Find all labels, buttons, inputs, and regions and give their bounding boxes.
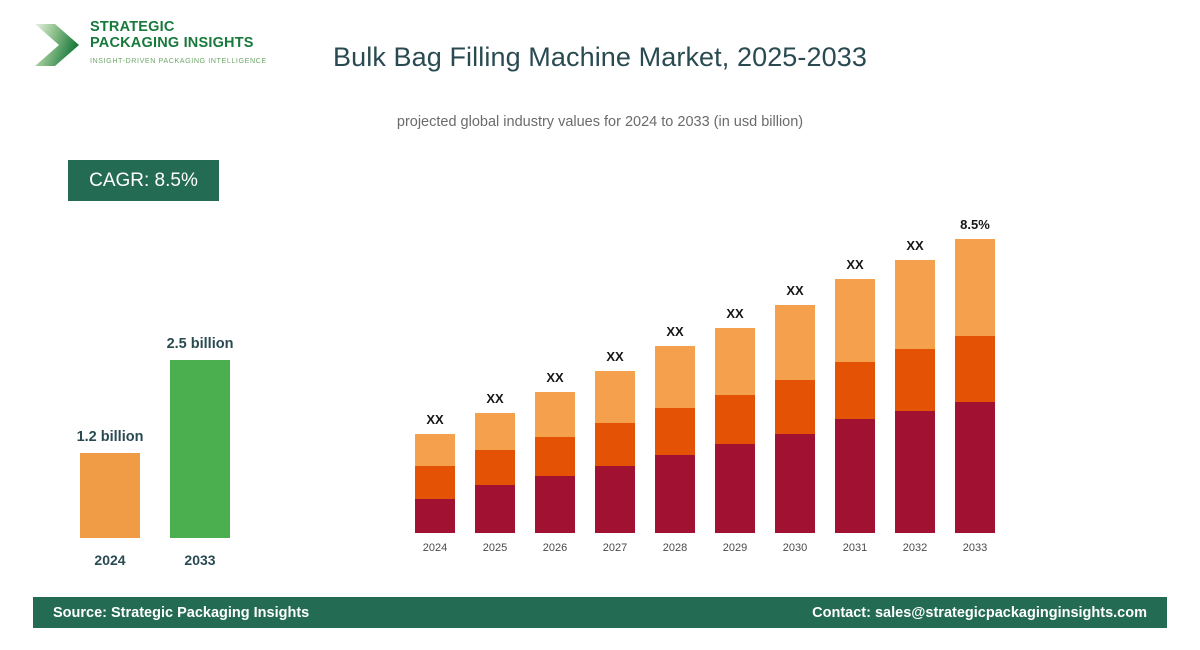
stacked-bar-year-label: 2025 [465,542,525,554]
stacked-bar-column: XX2030 [775,227,815,560]
stacked-bar-column: XX2024 [415,227,455,560]
stacked-bar-segment [595,423,635,466]
stacked-bar-segment [415,434,455,466]
stacked-bar [835,279,875,533]
comparison-bar-year-label: 2033 [170,552,230,568]
stacked-bar-column: XX2028 [655,227,695,560]
stacked-bar-value-label: XX [880,238,950,253]
stacked-bar-segment [415,466,455,499]
stacked-bar-segment [655,408,695,455]
stacked-bar-value-label: XX [640,324,710,339]
stacked-bar-segment [595,371,635,423]
stacked-bar-segment [955,336,995,402]
cagr-badge: CAGR: 8.5% [68,160,219,201]
stacked-bar [895,260,935,533]
stacked-bar-value-label: XX [760,283,830,298]
stacked-bar-segment [595,466,635,533]
stacked-bar [595,371,635,533]
stacked-bar-column: XX2027 [595,227,635,560]
stacked-bar-year-label: 2024 [405,542,465,554]
stacked-bar-year-label: 2028 [645,542,705,554]
stacked-bar-segment [955,402,995,533]
stacked-bar-value-label: XX [400,412,470,427]
infographic-canvas: STRATEGIC PACKAGING INSIGHTS INSIGHT-DRI… [0,0,1200,650]
stacked-bar-segment [835,362,875,419]
stacked-bar-value-label: XX [580,349,650,364]
stacked-bar [475,413,515,533]
stacked-bar-value-label: XX [820,257,890,272]
stacked-bar-year-label: 2027 [585,542,645,554]
stacked-bar [775,305,815,533]
stacked-bar-value-label: XX [700,306,770,321]
stacked-bar [655,346,695,533]
page-title: Bulk Bag Filling Machine Market, 2025-20… [0,42,1200,73]
stacked-bar [535,392,575,533]
footer-source: Source: Strategic Packaging Insights [53,605,309,621]
comparison-bar-value-label: 1.2 billion [55,429,165,445]
stacked-bar-segment [475,413,515,450]
brand-line-1: STRATEGIC [90,20,267,36]
stacked-bar-segment [715,395,755,444]
stacked-bar-segment [655,455,695,533]
stacked-bar-segment [895,260,935,349]
stacked-bar-segment [775,380,815,434]
stacked-bar-segment [655,346,695,408]
stacked-bar-year-label: 2033 [945,542,1005,554]
stacked-bar-segment [775,434,815,533]
stacked-bar-column: XX2026 [535,227,575,560]
stacked-bar-year-label: 2029 [705,542,765,554]
stacked-bar [715,328,755,533]
stacked-bar-year-label: 2026 [525,542,585,554]
stacked-bar-column: XX2032 [895,227,935,560]
stacked-bar-segment [535,392,575,437]
stacked-bar-segment [415,499,455,533]
stacked-bar-value-label: XX [520,370,590,385]
comparison-bar-chart: 1.2 billion20242.5 billion2033 [55,320,275,570]
page-subtitle: projected global industry values for 202… [0,114,1200,130]
stacked-bar-segment [955,239,995,336]
cagr-badge-label: CAGR: 8.5% [89,170,198,192]
comparison-bar-year-label: 2024 [80,552,140,568]
stacked-bar-segment [475,485,515,533]
comparison-bar-value-label: 2.5 billion [145,336,255,352]
stacked-bar-segment [475,450,515,485]
stacked-bar-column: 8.5%2033 [955,227,995,560]
stacked-bar-column: XX2031 [835,227,875,560]
stacked-bar-value-label: 8.5% [940,217,1010,232]
footer-contact: Contact: sales@strategicpackaginginsight… [812,605,1147,621]
stacked-bar-year-label: 2031 [825,542,885,554]
comparison-bar [80,453,140,538]
stacked-bar-segment [535,476,575,533]
stacked-bar-segment [895,349,935,411]
stacked-bar [415,434,455,533]
stacked-bar-year-label: 2030 [765,542,825,554]
stacked-bar [955,239,995,533]
comparison-bar [170,360,230,538]
footer-bar: Source: Strategic Packaging Insights Con… [33,597,1167,628]
stacked-bar-segment [715,328,755,395]
stacked-bar-chart: XX2024XX2025XX2026XX2027XX2028XX2029XX20… [400,200,1020,560]
stacked-bar-value-label: XX [460,391,530,406]
stacked-bar-segment [775,305,815,380]
stacked-bar-segment [895,411,935,533]
stacked-bar-segment [835,279,875,362]
stacked-bar-segment [835,419,875,533]
stacked-bar-year-label: 2032 [885,542,945,554]
stacked-bar-column: XX2025 [475,227,515,560]
stacked-bar-column: XX2029 [715,227,755,560]
stacked-bar-segment [715,444,755,533]
stacked-bar-segment [535,437,575,476]
